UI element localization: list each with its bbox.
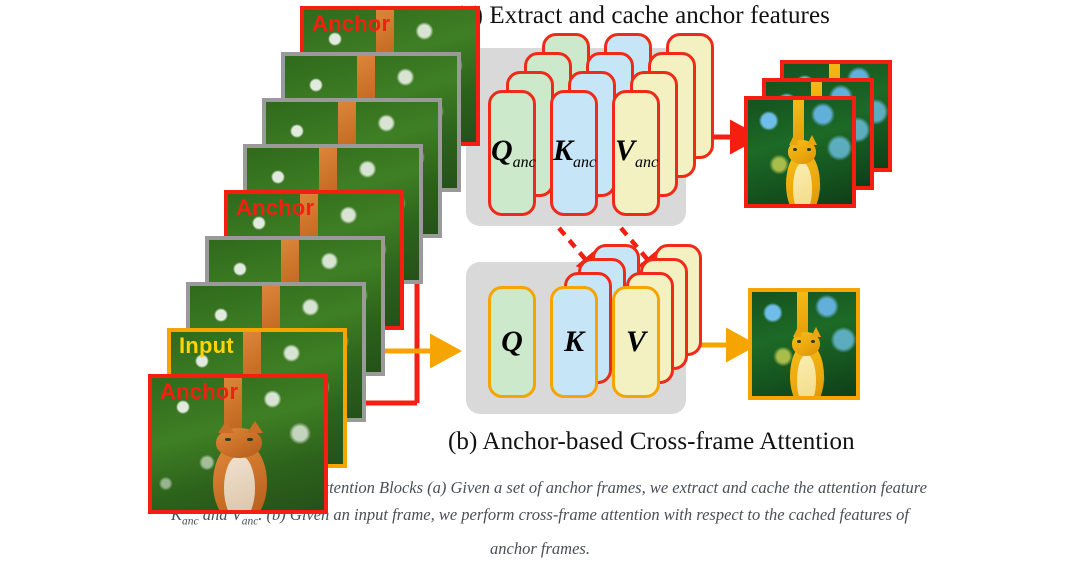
v-card[interactable]: V bbox=[612, 286, 660, 398]
card-symbol: Kanc bbox=[553, 134, 595, 172]
q-anc-card[interactable]: Qanc bbox=[488, 90, 536, 216]
k-card[interactable]: K bbox=[550, 286, 598, 398]
cat-ear-left bbox=[218, 421, 234, 433]
frame-label-anchor: Anchor bbox=[236, 196, 314, 219]
cat-ear-left bbox=[793, 327, 803, 337]
card-symbol: Q bbox=[491, 325, 533, 359]
card-symbol: K bbox=[553, 325, 595, 359]
frame-label-anchor: Anchor bbox=[160, 380, 238, 403]
cat-eye-right bbox=[811, 340, 815, 343]
figure-root: (a) Extract and cache anchor features (b… bbox=[0, 0, 1080, 560]
frame-photo bbox=[752, 292, 856, 396]
cat-eye-left bbox=[797, 340, 801, 343]
card-symbol: V bbox=[615, 325, 657, 359]
q-card[interactable]: Q bbox=[488, 286, 536, 398]
video-frame-9-anchor[interactable]: Anchor bbox=[148, 374, 328, 514]
cat-ear-right bbox=[807, 135, 817, 145]
caption-symbol-k-sub: anc bbox=[182, 515, 199, 527]
cat-belly bbox=[797, 355, 816, 400]
k-anc-card[interactable]: Kanc bbox=[550, 90, 598, 216]
frame-label-input: Input bbox=[179, 334, 234, 357]
cat-eye-left bbox=[793, 148, 797, 151]
cat-belly bbox=[793, 163, 812, 208]
cat-eye-right bbox=[807, 148, 811, 151]
caption-line-2: . (b) Given an input frame, we perform c… bbox=[258, 505, 909, 524]
v-anc-card[interactable]: Vanc bbox=[612, 90, 660, 216]
cat-ear-right bbox=[811, 327, 821, 337]
card-symbol: Vanc bbox=[615, 134, 657, 172]
caption-symbol-v-sub: anc bbox=[242, 515, 259, 527]
caption-line-3: anchor frames. bbox=[490, 539, 590, 558]
output-frame-b-1[interactable] bbox=[748, 288, 860, 400]
cat-ear-right bbox=[247, 421, 263, 433]
cat-ear-left bbox=[789, 135, 799, 145]
cat-belly bbox=[224, 456, 255, 514]
frame-label-anchor: Anchor bbox=[312, 12, 390, 35]
card-symbol: Qanc bbox=[491, 134, 533, 172]
frame-photo bbox=[748, 100, 852, 204]
output-frame-a-1[interactable] bbox=[744, 96, 856, 208]
